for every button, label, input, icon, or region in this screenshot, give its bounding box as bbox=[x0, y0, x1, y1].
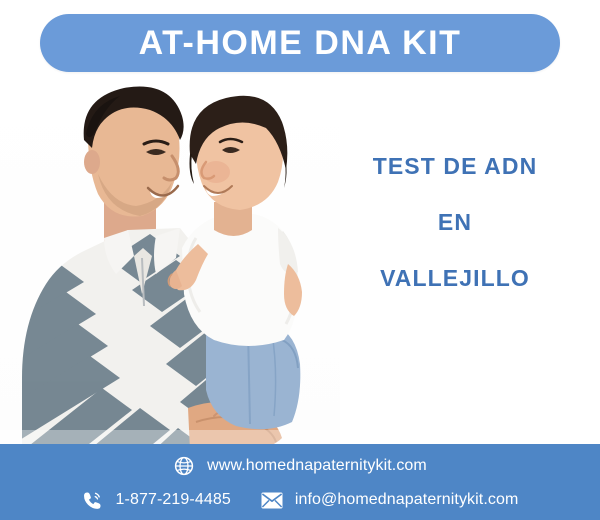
globe-icon bbox=[173, 455, 195, 477]
family-photo bbox=[0, 78, 340, 450]
envelope-icon bbox=[261, 489, 283, 511]
footer-contact-bar: www.homednapaternitykit.com 1-877-219-44… bbox=[0, 444, 600, 520]
footer-website-item[interactable]: www.homednapaternitykit.com bbox=[173, 455, 427, 477]
footer-website-row: www.homednapaternitykit.com bbox=[0, 450, 600, 482]
headline-line-3: VALLEJILLO bbox=[330, 267, 580, 290]
poster-canvas: AT-HOME DNA KIT bbox=[0, 0, 600, 520]
page-title: AT-HOME DNA KIT bbox=[139, 26, 462, 60]
footer-email-item[interactable]: info@homednapaternitykit.com bbox=[261, 489, 519, 511]
footer-website-text: www.homednapaternitykit.com bbox=[207, 457, 427, 475]
footer-contact-row: 1-877-219-4485 info@homednapaternitykit.… bbox=[0, 484, 600, 516]
footer-phone-item[interactable]: 1-877-219-4485 bbox=[82, 489, 231, 511]
phone-icon bbox=[82, 489, 104, 511]
headline-line-1: TEST DE ADN bbox=[330, 155, 580, 178]
header-banner: AT-HOME DNA KIT bbox=[40, 14, 560, 72]
headline-line-2: EN bbox=[330, 211, 580, 234]
footer-email-text: info@homednapaternitykit.com bbox=[295, 491, 519, 509]
footer-phone-text: 1-877-219-4485 bbox=[116, 491, 231, 509]
headline-block: TEST DE ADN EN VALLEJILLO bbox=[330, 155, 580, 290]
